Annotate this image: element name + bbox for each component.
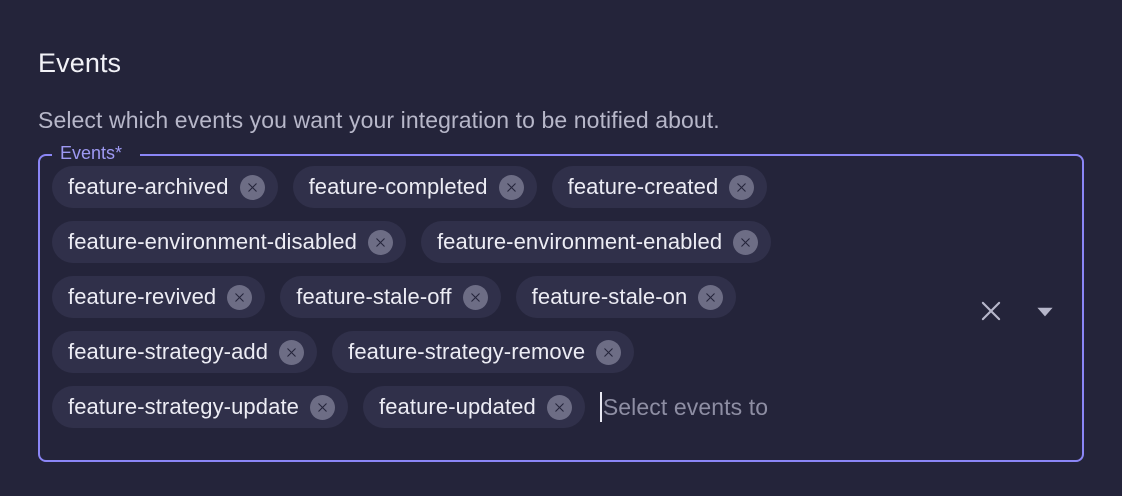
cancel-icon[interactable] <box>547 395 572 420</box>
event-chip-label: feature-stale-off <box>296 276 451 318</box>
event-chip-label: feature-stale-on <box>532 276 688 318</box>
cancel-icon[interactable] <box>733 230 758 255</box>
page-title: Events <box>38 46 121 80</box>
event-chip[interactable]: feature-environment-enabled <box>421 221 771 263</box>
event-chip-label: feature-created <box>568 166 719 208</box>
selected-events-chip-list: feature-archivedfeature-completedfeature… <box>52 166 974 428</box>
chip-row: feature-revivedfeature-stale-offfeature-… <box>52 276 974 318</box>
chip-row: feature-strategy-addfeature-strategy-rem… <box>52 331 974 373</box>
events-search-placeholder: Select events to <box>603 386 768 428</box>
event-chip-label: feature-archived <box>68 166 229 208</box>
clear-all-button[interactable] <box>974 294 1008 328</box>
event-chip-label: feature-environment-disabled <box>68 221 357 263</box>
cancel-icon[interactable] <box>240 175 265 200</box>
event-chip-label: feature-environment-enabled <box>437 221 722 263</box>
events-settings-page: Events Select which events you want your… <box>0 0 1122 496</box>
page-description: Select which events you want your integr… <box>38 105 720 135</box>
cancel-icon[interactable] <box>368 230 393 255</box>
cancel-icon[interactable] <box>310 395 335 420</box>
event-chip[interactable]: feature-stale-on <box>516 276 737 318</box>
event-chip[interactable]: feature-strategy-remove <box>332 331 634 373</box>
clear-all-icon <box>976 296 1006 326</box>
chip-row: feature-strategy-updatefeature-updatedSe… <box>52 386 974 428</box>
open-dropdown-button[interactable] <box>1028 294 1062 328</box>
event-chip-label: feature-completed <box>309 166 488 208</box>
events-multiselect-field[interactable]: Events* feature-archivedfeature-complete… <box>38 154 1084 462</box>
event-chip-label: feature-strategy-update <box>68 386 299 428</box>
event-chip[interactable]: feature-revived <box>52 276 265 318</box>
cancel-icon[interactable] <box>729 175 754 200</box>
field-adornments <box>974 294 1062 328</box>
event-chip-label: feature-revived <box>68 276 216 318</box>
cancel-icon[interactable] <box>499 175 524 200</box>
event-chip[interactable]: feature-updated <box>363 386 585 428</box>
event-chip-label: feature-strategy-add <box>68 331 268 373</box>
event-chip[interactable]: feature-completed <box>293 166 537 208</box>
event-chip[interactable]: feature-strategy-add <box>52 331 317 373</box>
event-chip[interactable]: feature-strategy-update <box>52 386 348 428</box>
cancel-icon[interactable] <box>698 285 723 310</box>
field-content: feature-archivedfeature-completedfeature… <box>38 154 1084 462</box>
event-chip[interactable]: feature-created <box>552 166 768 208</box>
chip-row: feature-archivedfeature-completedfeature… <box>52 166 974 208</box>
cancel-icon[interactable] <box>279 340 304 365</box>
event-chip[interactable]: feature-archived <box>52 166 278 208</box>
cancel-icon[interactable] <box>463 285 488 310</box>
event-chip-label: feature-strategy-remove <box>348 331 585 373</box>
event-chip[interactable]: feature-environment-disabled <box>52 221 406 263</box>
event-chip-label: feature-updated <box>379 386 536 428</box>
chevron-down-icon <box>1032 298 1058 324</box>
text-caret <box>600 392 602 422</box>
events-search-input[interactable]: Select events to <box>600 386 974 428</box>
cancel-icon[interactable] <box>596 340 621 365</box>
event-chip[interactable]: feature-stale-off <box>280 276 500 318</box>
cancel-icon[interactable] <box>227 285 252 310</box>
chip-row: feature-environment-disabledfeature-envi… <box>52 221 974 263</box>
